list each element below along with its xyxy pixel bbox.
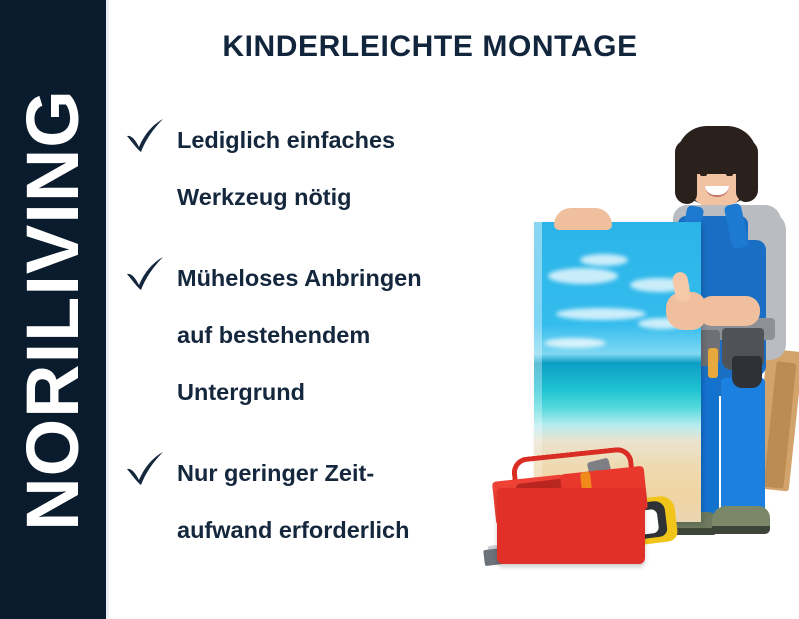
hair-side-left (675, 140, 697, 204)
list-item: Lediglich einfaches Werkzeug nötig (124, 112, 504, 226)
cloud (544, 338, 606, 348)
cloud (548, 268, 618, 284)
eye-right (726, 172, 733, 176)
list-item: Müheloses Anbringen auf bestehendem Unte… (124, 250, 504, 421)
trouser-leg-right (721, 378, 765, 520)
brand-band: NORILIVING (0, 0, 106, 619)
hair-side-right (736, 140, 758, 202)
belt-tool (732, 356, 762, 388)
list-item-line: Werkzeug nötig (177, 169, 504, 226)
list-item-line: Nur geringer Zeit- (177, 445, 504, 502)
eye-left (700, 172, 707, 176)
brand-name: NORILIVING (16, 89, 90, 531)
brand-band-edge (106, 0, 109, 619)
list-item-line: Untergrund (177, 364, 504, 421)
check-icon (124, 449, 166, 487)
shoe-sole-right (712, 526, 770, 534)
list-item-line: aufwand erforderlich (177, 502, 504, 559)
list-item: Nur geringer Zeit- aufwand erforderlich (124, 445, 504, 559)
toolbox-body (497, 488, 645, 564)
list-item-text: Müheloses Anbringen auf bestehendem Unte… (177, 250, 504, 421)
feature-list: Lediglich einfaches Werkzeug nötig Mühel… (124, 112, 504, 583)
forearm (698, 296, 760, 326)
list-item-text: Nur geringer Zeit- aufwand erforderlich (177, 445, 504, 559)
check-icon (124, 254, 166, 292)
list-item-line: Lediglich einfaches (177, 112, 504, 169)
product-photo (470, 0, 799, 619)
cloud (580, 254, 628, 266)
belt-tool-handle (708, 348, 718, 378)
list-item-line: auf bestehendem (177, 307, 504, 364)
hand-top (554, 208, 612, 230)
promo-poster: NORILIVING KINDERLEICHTE MONTAGE Ledigli… (0, 0, 799, 619)
list-item-line: Müheloses Anbringen (177, 250, 504, 307)
check-icon (124, 116, 166, 154)
list-item-text: Lediglich einfaches Werkzeug nötig (177, 112, 504, 226)
cloud (556, 308, 646, 320)
